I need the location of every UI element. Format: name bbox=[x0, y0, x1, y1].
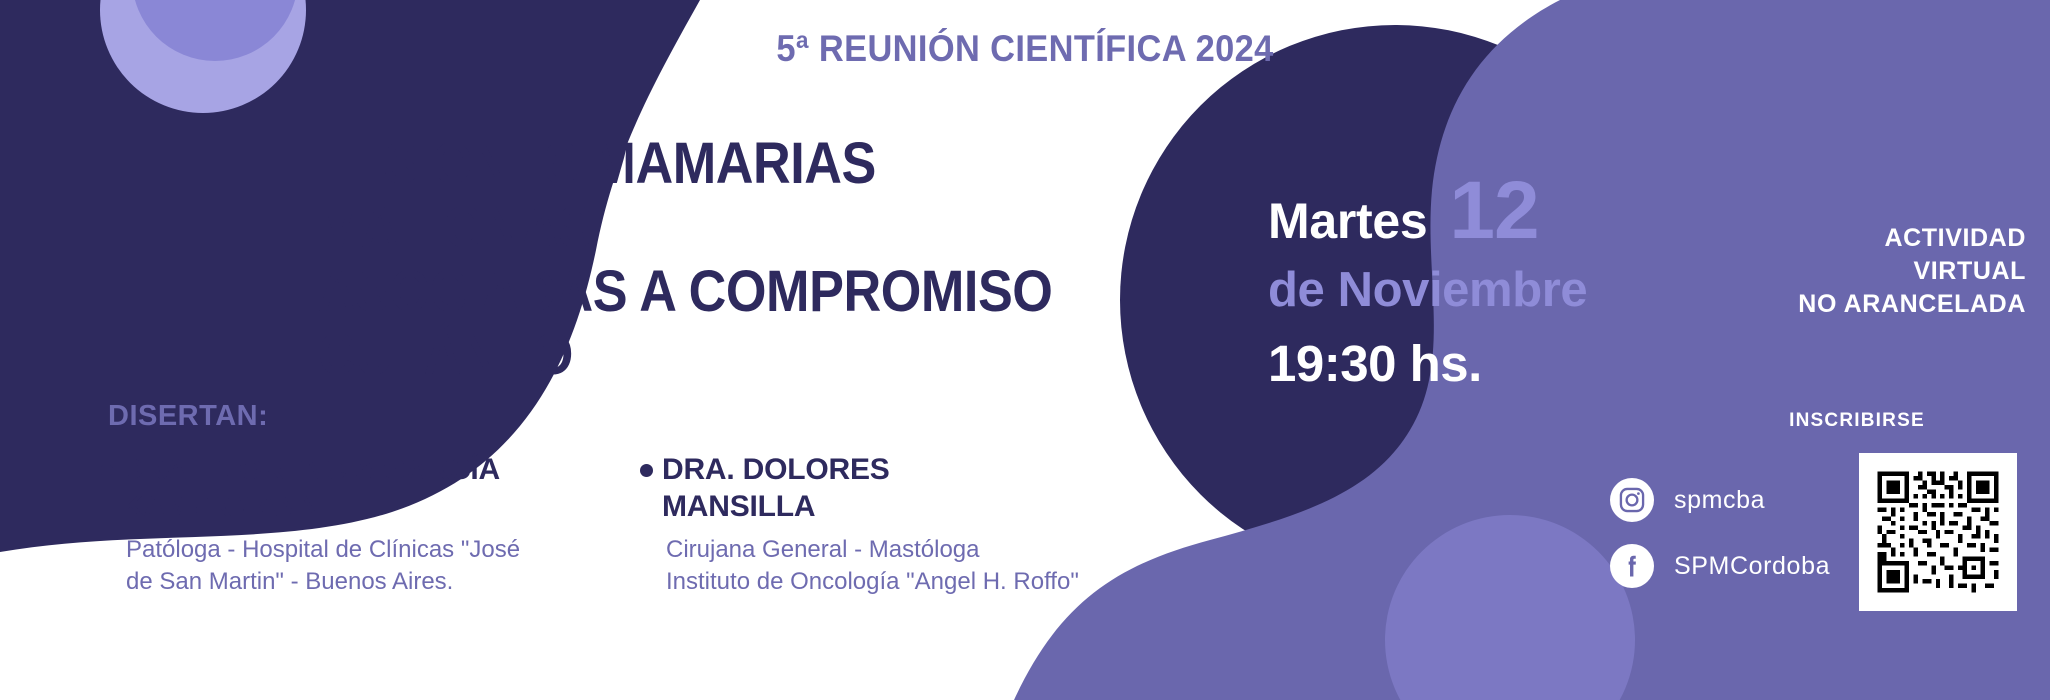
speaker-name: DRA. DOLORES MANSILLA bbox=[638, 452, 1168, 525]
facebook-handle[interactable]: SPMCordoba bbox=[1674, 552, 1830, 581]
speaker-name-line-2: MANSILLA bbox=[662, 490, 815, 523]
speaker-role-line-1: Patóloga - Hospital de Clínicas "José bbox=[126, 536, 520, 563]
speaker-name-line-1: DRA. FLORENCIA GARCÍA bbox=[122, 453, 500, 486]
date-time: 19:30 hs. bbox=[1268, 334, 1688, 393]
speaker-role-line-2: Instituto de Oncología "Angel H. Roffo" bbox=[666, 568, 1079, 595]
speaker-item: DRA. DOLORES MANSILLA Cirujana General -… bbox=[638, 452, 1168, 599]
register-label[interactable]: INSCRIBIRSE bbox=[1692, 410, 2022, 432]
speaker-role: Patóloga - Hospital de Clínicas "José de… bbox=[100, 534, 630, 598]
activity-info: ACTIVIDAD VIRTUAL NO ARANCELADA bbox=[1686, 222, 2026, 321]
speaker-name-text: DRA. FLORENCIA GARCÍA KAMERMANN bbox=[122, 452, 500, 525]
event-eyebrow: 5ª REUNIÓN CIENTÍFICA 2024 bbox=[72, 28, 1979, 70]
event-date-block: Martes 12 de Noviembre 19:30 hs. bbox=[1268, 176, 1688, 393]
activity-line-1: ACTIVIDAD bbox=[1686, 222, 2026, 255]
activity-line-3: NO ARANCELADA bbox=[1686, 288, 2026, 321]
title-line-3: CUTÁNEO bbox=[318, 323, 1146, 387]
speaker-item: DRA. FLORENCIA GARCÍA KAMERMANN Patóloga… bbox=[100, 452, 630, 599]
date-row-primary: Martes 12 bbox=[1268, 176, 1688, 250]
activity-line-2: VIRTUAL bbox=[1686, 255, 2026, 288]
title-line-1: LESIONES MAMARIAS MALIGNAS bbox=[318, 132, 1146, 260]
speaker-name-line-2: KAMERMANN bbox=[122, 490, 320, 523]
speaker-name: DRA. FLORENCIA GARCÍA KAMERMANN bbox=[100, 452, 630, 525]
speakers-list: DRA. FLORENCIA GARCÍA KAMERMANN Patóloga… bbox=[100, 452, 1200, 599]
speakers-label: DISERTAN: bbox=[108, 400, 268, 433]
date-day-of-week: Martes bbox=[1268, 192, 1427, 250]
social-link-facebook[interactable]: SPMCordoba bbox=[1610, 544, 1830, 588]
qr-code-graphic[interactable] bbox=[1873, 467, 2003, 597]
bullet-icon bbox=[640, 464, 653, 477]
instagram-handle[interactable]: spmcba bbox=[1674, 486, 1765, 515]
speaker-name-text: DRA. DOLORES MANSILLA bbox=[662, 452, 890, 525]
facebook-icon[interactable] bbox=[1610, 544, 1654, 588]
event-poster: 5ª REUNIÓN CIENTÍFICA 2024 LESIONES MAMA… bbox=[0, 0, 2050, 700]
bullet-icon bbox=[100, 464, 113, 477]
page-title: LESIONES MAMARIAS MALIGNAS ASOCIADAS A C… bbox=[318, 132, 1146, 387]
speaker-role-line-1: Cirujana General - Mastóloga bbox=[666, 536, 980, 563]
social-link-instagram[interactable]: spmcba bbox=[1610, 478, 1830, 522]
speaker-name-line-1: DRA. DOLORES bbox=[662, 453, 890, 486]
qr-code[interactable] bbox=[1859, 453, 2017, 611]
social-links: spmcba SPMCordoba bbox=[1610, 478, 1830, 610]
date-month: de Noviembre bbox=[1268, 262, 1688, 318]
speaker-role: Cirujana General - Mastóloga Instituto d… bbox=[638, 534, 1168, 598]
instagram-icon[interactable] bbox=[1610, 478, 1654, 522]
date-day-number: 12 bbox=[1449, 176, 1538, 246]
title-line-2: ASOCIADAS A COMPROMISO bbox=[318, 260, 1146, 324]
speaker-role-line-2: de San Martin" - Buenos Aires. bbox=[126, 568, 453, 595]
